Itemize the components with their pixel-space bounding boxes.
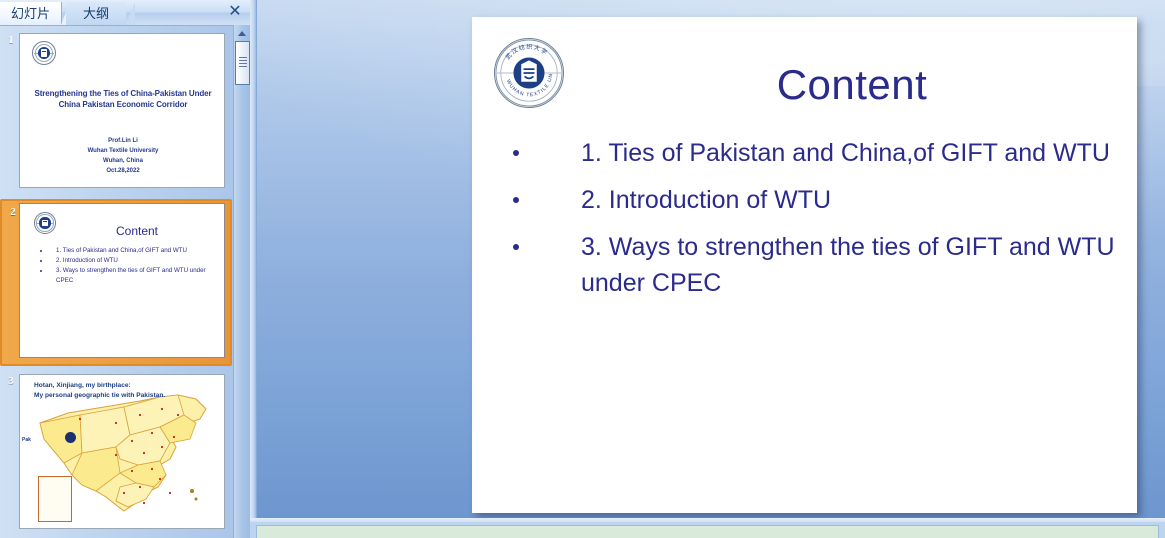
bullet-dot-icon (513, 244, 519, 250)
notes-pane[interactable] (256, 525, 1159, 538)
thumb1-city: Wuhan, China (30, 156, 216, 166)
thumb1-title: Strengthening the Ties of China-Pakistan… (30, 88, 216, 110)
bullet-dot-icon (40, 250, 42, 252)
thumb1-university: Wuhan Textile University (30, 146, 216, 156)
bullet-dot-icon (513, 150, 519, 156)
notes-pane-strip[interactable] (250, 522, 1165, 538)
thumb2-bullet-3: 3. Ways to strengthen the ties of GIFT a… (56, 267, 206, 284)
slide-thumbnail-1-canvas: Strengthening the Ties of China-Pakistan… (19, 33, 225, 188)
tab-outline-label: 大纲 (83, 6, 109, 21)
slide-body-placeholder[interactable]: 1. Ties of Pakistan and China,of GIFT an… (498, 135, 1118, 312)
thumb2-title: Content (62, 224, 212, 238)
list-item: 3. Ways to strengthen the ties of GIFT a… (498, 229, 1118, 301)
wuhan-textile-university-seal-icon: 武汉纺织大学 WUHAN TEXTILE UNIVERSITY (494, 38, 564, 108)
thumb3-caption-line-1: Hotan, Xinjiang, my birthplace: (34, 381, 214, 391)
tab-slides-label: 幻灯片 (11, 6, 50, 21)
slide-bullet-3: 3. Ways to strengthen the ties of GIFT a… (581, 233, 1115, 297)
thumb1-date: Oct.28,2022 (30, 166, 216, 176)
seal-icon (32, 41, 56, 65)
slide-thumbnail-2[interactable]: 2 Content 1. Ties of Pakistan and China,… (0, 199, 232, 366)
tab-outline[interactable]: 大纲 (66, 2, 126, 25)
current-slide-canvas[interactable]: 武汉纺织大学 WUHAN TEXTILE UNIVERSITY Content … (472, 17, 1137, 513)
map-inset-south-china-sea (38, 476, 72, 522)
thumb3-caption: Hotan, Xinjiang, my birthplace: My perso… (34, 381, 214, 400)
powerpoint-window: 幻灯片 大纲 ✕ 1 Strengthening the Ties of Chi… (0, 0, 1165, 538)
slide-thumbnail-2-canvas: Content 1. Ties of Pakistan and China,of… (19, 203, 225, 358)
slide-number-1: 1 (4, 34, 18, 46)
thumb1-author: Prof.Lin Li (30, 136, 216, 146)
slide-title[interactable]: Content (592, 61, 1112, 109)
slide-thumbnail-1[interactable]: 1 Strengthening the Ties of China-Pakist… (0, 29, 232, 195)
tab-slides[interactable]: 幻灯片 (0, 2, 62, 25)
thumb2-bullets: 1. Ties of Pakistan and China,of GIFT an… (34, 246, 220, 286)
map-label-pakistan: Pak (22, 437, 31, 443)
slides-panel-scrollbar[interactable] (233, 25, 250, 538)
slide-number-2: 2 (6, 206, 20, 218)
slide-bullet-2: 2. Introduction of WTU (581, 186, 831, 214)
list-item: 1. Ties of Pakistan and China,of GIFT an… (498, 135, 1118, 171)
bullet-dot-icon (40, 270, 42, 272)
list-item: 2. Introduction of WTU (34, 256, 220, 266)
thumb2-bullet-2: 2. Introduction of WTU (56, 257, 118, 264)
thumb3-caption-line-2: My personal geographic tie with Pakistan… (34, 391, 214, 401)
slides-panel: 幻灯片 大纲 ✕ 1 Strengthening the Ties of Chi… (0, 0, 250, 538)
bullet-dot-icon (513, 197, 519, 203)
slide-thumbnail-3-canvas: Hotan, Xinjiang, my birthplace: My perso… (19, 374, 225, 529)
thumb1-subtitle: Prof.Lin Li Wuhan Textile University Wuh… (30, 136, 216, 176)
panel-tabstrip: 幻灯片 大纲 ✕ (0, 0, 250, 26)
editing-area-left-edge (250, 0, 257, 518)
map-marker-hotan (65, 432, 76, 443)
scroll-thumb[interactable] (235, 41, 250, 85)
slide-bullet-1: 1. Ties of Pakistan and China,of GIFT an… (581, 139, 1110, 167)
list-item: 2. Introduction of WTU (498, 182, 1118, 218)
slide-number-3: 3 (4, 375, 18, 387)
list-item: 3. Ways to strengthen the ties of GIFT a… (34, 266, 220, 285)
slide-thumbnail-3[interactable]: 3 (0, 370, 232, 536)
slide-editing-area: 武汉纺织大学 WUHAN TEXTILE UNIVERSITY Content … (250, 0, 1165, 538)
scroll-up-arrow-icon[interactable] (236, 27, 249, 39)
thumb2-bullet-1: 1. Ties of Pakistan and China,of GIFT an… (56, 247, 187, 254)
bullet-dot-icon (40, 260, 42, 262)
slide-thumbnail-list[interactable]: 1 Strengthening the Ties of China-Pakist… (0, 25, 232, 538)
list-item: 1. Ties of Pakistan and China,of GIFT an… (34, 246, 220, 256)
close-panel-icon[interactable]: ✕ (226, 3, 244, 21)
seal-icon (34, 212, 56, 234)
